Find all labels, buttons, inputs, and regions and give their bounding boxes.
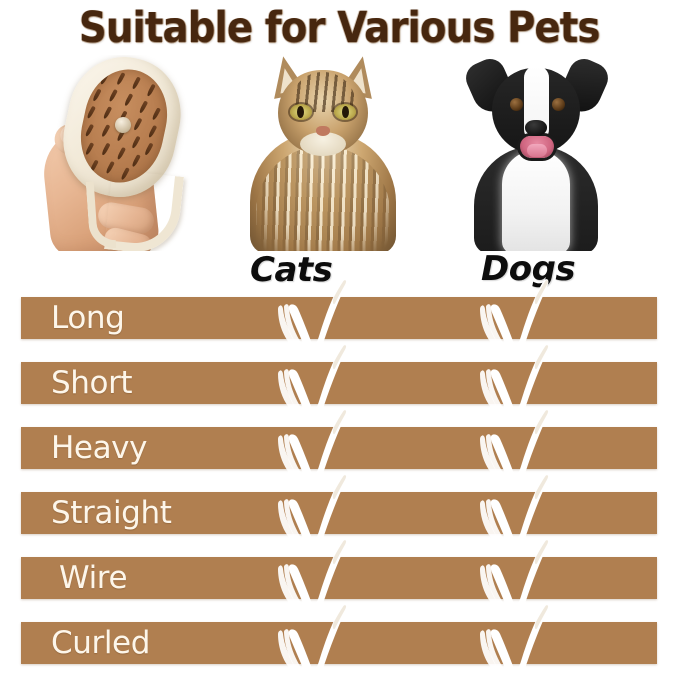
- table-row: Wire: [21, 557, 657, 599]
- table-row: Straight: [21, 492, 657, 534]
- compatibility-table: Long Short Heavy: [0, 0, 679, 679]
- infographic-canvas: Suitable for Various Pets: [0, 0, 679, 679]
- table-row: Long: [21, 297, 657, 339]
- row-label: Wire: [59, 560, 127, 596]
- table-row: Heavy: [21, 427, 657, 469]
- row-label: Long: [51, 300, 124, 336]
- row-label: Heavy: [51, 430, 147, 466]
- table-row: Short: [21, 362, 657, 404]
- row-label: Curled: [51, 625, 150, 661]
- row-label: Straight: [51, 495, 171, 531]
- row-label: Short: [51, 365, 132, 401]
- table-row: Curled: [21, 622, 657, 664]
